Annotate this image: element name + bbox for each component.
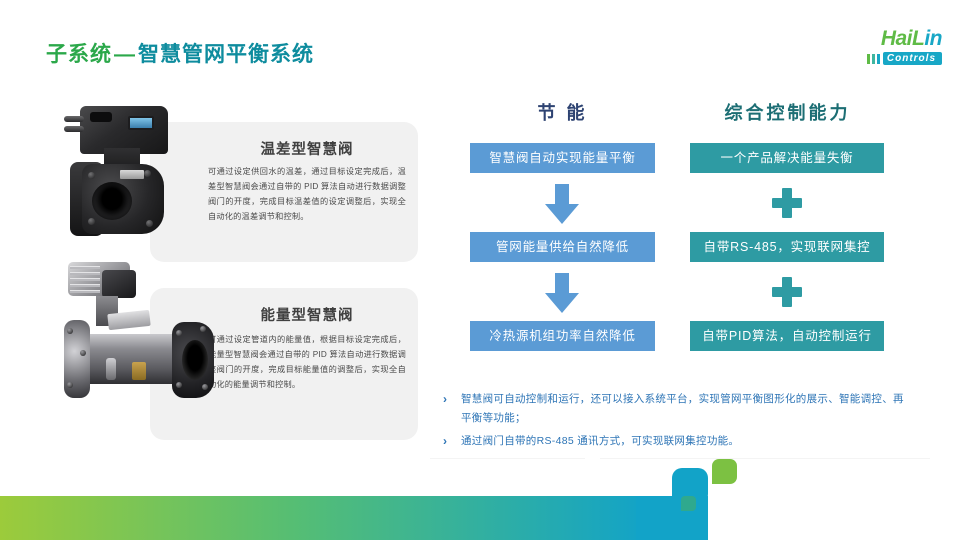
chevron-right-icon: ›: [443, 433, 461, 450]
valve-bore: [182, 340, 208, 380]
page-title-main: 智慧管网平衡系统: [138, 43, 314, 66]
temperature-difference-smart-valve-photo: [62, 104, 200, 244]
logo-word-a: HaiL: [881, 27, 925, 50]
product-description: 可通过设定管道内的能量值，根据目标设定完成后，能量型智慧阀会通过自带的 PID …: [208, 332, 406, 392]
note-text: 通过阀门自带的RS-485 通讯方式，可实现联网集控功能。: [461, 432, 913, 451]
valve-connectors: [64, 116, 84, 142]
valve-nameplate: [107, 310, 150, 330]
product-description: 可通过设定供回水的温差，通过目标设定完成后，温差型智慧阀会通过自带的 PID 算…: [208, 164, 406, 224]
energy-smart-valve-photo: [50, 262, 225, 432]
note-text: 智慧阀可自动控制和运行，还可以接入系统平台，实现管网平衡图形化的展示、智能调控、…: [461, 390, 913, 428]
plus-icon: [772, 277, 802, 307]
notes-list: › 智慧阀可自动控制和运行，还可以接入系统平台，实现管网平衡图形化的展示、智能调…: [443, 390, 913, 455]
arrow-down-icon: [545, 273, 579, 315]
valve-heat-fins: [70, 264, 100, 294]
flow-box-left-3[interactable]: 冷热源机组功率自然降低: [470, 321, 655, 351]
valve-display-screen: [128, 116, 154, 130]
plus-icon: [772, 188, 802, 218]
logo-wordmark: HaiLin: [822, 28, 942, 50]
logo-bars-icon: [867, 54, 880, 64]
decor-line: [430, 458, 585, 459]
list-item: › 智慧阀可自动控制和运行，还可以接入系统平台，实现管网平衡图形化的展示、智能调…: [443, 390, 913, 428]
product-title: 温差型智慧阀: [210, 138, 404, 159]
page-title: 子系统—智慧管网平衡系统: [46, 38, 314, 68]
logo-word-b: in: [924, 27, 942, 50]
column-heading-energy-saving: 节 能: [470, 99, 655, 125]
page-title-prefix: 子系统: [46, 43, 112, 66]
footer-step-shape: [636, 468, 708, 540]
footer-square-teal: [681, 496, 696, 511]
flow-box-left-1[interactable]: 智慧阀自动实现能量平衡: [470, 143, 655, 173]
logo-subline: Controls: [822, 52, 942, 65]
footer-gradient-bar: [0, 496, 648, 540]
flow-box-right-2[interactable]: 自带RS-485，实现联网集控: [690, 232, 884, 262]
slide-root: 子系统—智慧管网平衡系统 HaiLin Controls 温差型智慧阀 可通过设…: [0, 0, 960, 540]
valve-flange-left: [64, 320, 90, 398]
brand-logo: HaiLin Controls: [822, 28, 942, 72]
flow-box-left-2[interactable]: 管网能量供给自然降低: [470, 232, 655, 262]
flow-box-right-1[interactable]: 一个产品解决能量失衡: [690, 143, 884, 173]
list-item: › 通过阀门自带的RS-485 通讯方式，可实现联网集控功能。: [443, 432, 913, 451]
valve-bore: [92, 182, 132, 220]
decor-line: [600, 458, 930, 459]
flow-box-right-3[interactable]: 自带PID算法，自动控制运行: [690, 321, 884, 351]
valve-brass-fitting: [132, 362, 146, 380]
valve-control-box: [102, 270, 136, 298]
page-title-dash: —: [112, 43, 138, 66]
valve-actuator: [80, 106, 168, 154]
logo-controls-label: Controls: [883, 52, 942, 65]
footer-square-green: [712, 459, 737, 484]
valve-nameplate: [120, 170, 144, 179]
column-heading-control-capability: 综合控制能力: [690, 99, 885, 125]
arrow-down-icon: [545, 184, 579, 226]
chevron-right-icon: ›: [443, 391, 461, 408]
product-title: 能量型智慧阀: [210, 304, 404, 325]
valve-sensor-probe: [106, 358, 116, 380]
